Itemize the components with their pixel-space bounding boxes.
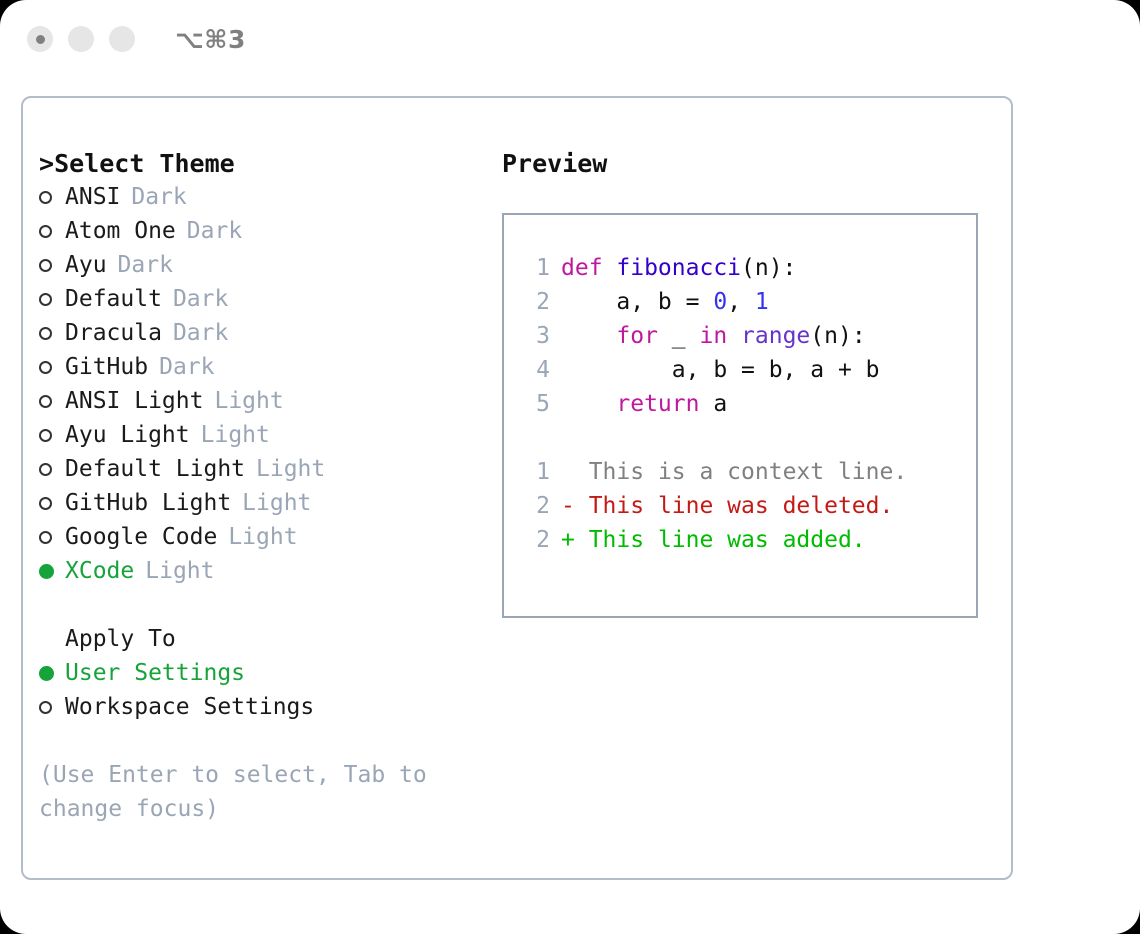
theme-variant-label: Dark (131, 184, 186, 210)
apply-to-label: Workspace Settings (65, 694, 314, 720)
radio-selected-icon[interactable] (39, 666, 65, 681)
radio-glyph (39, 497, 52, 510)
app-window: ⌥⌘3 > Select Theme ANSIDarkAtom OneDarkA… (0, 0, 1140, 934)
window-dot-filled-icon[interactable] (27, 26, 53, 52)
radio-unselected-icon[interactable] (39, 327, 65, 340)
theme-name-label: GitHub (65, 354, 148, 380)
code-line: 1def fibonacci(n): (516, 251, 976, 285)
theme-variant-label: Dark (159, 354, 214, 380)
diff-line-number: 2 (516, 527, 550, 553)
theme-name-label: GitHub Light (65, 490, 231, 516)
diff-line-number: 2 (516, 493, 550, 519)
apply-to-list: User SettingsWorkspace Settings (39, 656, 479, 724)
radio-unselected-icon[interactable] (39, 191, 65, 204)
theme-list-item[interactable]: Google CodeLight (39, 520, 479, 554)
radio-glyph (39, 666, 54, 681)
radio-glyph (39, 564, 54, 579)
code-token: def (561, 255, 616, 281)
theme-list-item[interactable]: ANSI LightLight (39, 384, 479, 418)
theme-list-item[interactable]: DefaultDark (39, 282, 479, 316)
theme-list-item[interactable]: Atom OneDark (39, 214, 479, 248)
radio-glyph (39, 191, 52, 204)
code-token (561, 391, 616, 417)
radio-glyph (39, 463, 52, 476)
radio-glyph (39, 361, 52, 374)
title-bar: ⌥⌘3 (0, 0, 1140, 78)
diff-marker: - (561, 493, 575, 519)
radio-selected-icon[interactable] (39, 564, 65, 579)
prompt-caret: > (39, 149, 54, 178)
code-token: _ (658, 323, 700, 349)
window-dot-inner (36, 35, 45, 44)
theme-list-item[interactable]: ANSIDark (39, 180, 479, 214)
select-theme-heading: > Select Theme (39, 146, 479, 180)
code-token (561, 323, 616, 349)
radio-unselected-icon[interactable] (39, 701, 65, 714)
code-token: (n): (741, 255, 796, 281)
radio-glyph (39, 701, 52, 714)
apply-to-item[interactable]: User Settings (39, 656, 479, 690)
theme-variant-label: Dark (173, 286, 228, 312)
keyboard-shortcut-label: ⌥⌘3 (175, 25, 246, 54)
theme-list-item[interactable]: AyuDark (39, 248, 479, 282)
theme-variant-label: Light (145, 558, 214, 584)
diff-line-text: This is a context line. (575, 459, 907, 485)
code-line-number: 3 (516, 323, 550, 349)
theme-variant-label: Light (201, 422, 270, 448)
theme-variant-label: Light (228, 524, 297, 550)
code-line-content: def fibonacci(n): (561, 255, 796, 281)
theme-list-item[interactable]: Ayu LightLight (39, 418, 479, 452)
theme-name-label: Ayu (65, 252, 107, 278)
diff-line-number: 1 (516, 459, 550, 485)
theme-name-label: Dracula (65, 320, 162, 346)
code-line-content: for _ in range(n): (561, 323, 866, 349)
theme-variant-label: Light (256, 456, 325, 482)
apply-to-label: User Settings (65, 660, 245, 686)
code-token: in (699, 323, 727, 349)
code-line-number: 4 (516, 357, 550, 383)
code-token: (n): (810, 323, 865, 349)
preview-box: 1def fibonacci(n):2 a, b = 0, 13 for _ i… (502, 213, 978, 618)
theme-name-label: ANSI Light (65, 388, 203, 414)
preview-title: Preview (502, 146, 992, 180)
radio-unselected-icon[interactable] (39, 259, 65, 272)
select-theme-heading-label: Select Theme (54, 149, 235, 178)
code-line: 2 a, b = 0, 1 (516, 285, 976, 319)
radio-unselected-icon[interactable] (39, 463, 65, 476)
theme-name-label: Atom One (65, 218, 176, 244)
code-token: a (699, 391, 727, 417)
theme-name-label: ANSI (65, 184, 120, 210)
radio-unselected-icon[interactable] (39, 293, 65, 306)
theme-name-label: Ayu Light (65, 422, 190, 448)
code-line-number: 2 (516, 289, 550, 315)
code-line: 3 for _ in range(n): (516, 319, 976, 353)
keyboard-hint-text: (Use Enter to select, Tab to change focu… (39, 758, 449, 826)
code-token: return (616, 391, 699, 417)
radio-glyph (39, 259, 52, 272)
window-dot-third-icon[interactable] (109, 26, 135, 52)
code-line-number: 5 (516, 391, 550, 417)
theme-list: ANSIDarkAtom OneDarkAyuDarkDefaultDarkDr… (39, 180, 479, 588)
code-line-content: return a (561, 391, 727, 417)
radio-unselected-icon[interactable] (39, 395, 65, 408)
theme-list-item[interactable]: GitHubDark (39, 350, 479, 384)
code-line: 5 return a (516, 387, 976, 421)
code-token: range (741, 323, 810, 349)
diff-line-text: This line was added. (575, 527, 866, 553)
theme-list-item[interactable]: XCodeLight (39, 554, 479, 588)
diff-marker (561, 459, 575, 485)
theme-variant-label: Dark (187, 218, 242, 244)
diff-marker: + (561, 527, 575, 553)
window-dot-second-icon[interactable] (68, 26, 94, 52)
code-line-number: 1 (516, 255, 550, 281)
code-line: 4 a, b = b, a + b (516, 353, 976, 387)
radio-glyph (39, 395, 52, 408)
theme-variant-label: Dark (173, 320, 228, 346)
radio-glyph (39, 225, 52, 238)
radio-glyph (39, 429, 52, 442)
theme-list-item[interactable]: DraculaDark (39, 316, 479, 350)
radio-unselected-icon[interactable] (39, 497, 65, 510)
code-token: fibonacci (616, 255, 741, 281)
code-token: a, b = b, a + b (561, 357, 880, 383)
theme-name-label: Default (65, 286, 162, 312)
code-token: 1 (755, 289, 769, 315)
diff-line: 1 This is a context line. (516, 455, 976, 489)
radio-unselected-icon[interactable] (39, 225, 65, 238)
radio-glyph (39, 531, 52, 544)
diff-sample: 1 This is a context line.2- This line wa… (516, 455, 976, 557)
theme-variant-label: Dark (118, 252, 173, 278)
diff-line: 2- This line was deleted. (516, 489, 976, 523)
theme-picker-panel: > Select Theme ANSIDarkAtom OneDarkAyuDa… (21, 96, 1013, 880)
radio-glyph (39, 327, 52, 340)
radio-unselected-icon[interactable] (39, 361, 65, 374)
radio-glyph (39, 293, 52, 306)
preview-column: Preview 1def fibonacci(n):2 a, b = 0, 13… (502, 146, 992, 618)
code-diff-separator (516, 421, 976, 455)
diff-line: 2+ This line was added. (516, 523, 976, 557)
apply-to-item[interactable]: Workspace Settings (39, 690, 479, 724)
list-spacer (39, 588, 479, 622)
theme-name-label: Google Code (65, 524, 217, 550)
code-token: for (616, 323, 658, 349)
theme-variant-label: Light (242, 490, 311, 516)
theme-list-item[interactable]: GitHub LightLight (39, 486, 479, 520)
theme-name-label: Default Light (65, 456, 245, 482)
radio-unselected-icon[interactable] (39, 429, 65, 442)
radio-unselected-icon[interactable] (39, 531, 65, 544)
theme-name-label: XCode (65, 558, 134, 584)
theme-list-column: > Select Theme ANSIDarkAtom OneDarkAyuDa… (39, 146, 479, 826)
diff-line-text: This line was deleted. (575, 493, 894, 519)
theme-list-item[interactable]: Default LightLight (39, 452, 479, 486)
theme-variant-label: Light (214, 388, 283, 414)
code-line-content: a, b = 0, 1 (561, 289, 769, 315)
apply-to-heading: Apply To (39, 622, 479, 656)
code-token: 0 (713, 289, 727, 315)
code-token: , (727, 289, 755, 315)
code-token (727, 323, 741, 349)
code-sample: 1def fibonacci(n):2 a, b = 0, 13 for _ i… (516, 251, 976, 421)
code-line-content: a, b = b, a + b (561, 357, 880, 383)
code-token: a, b = (561, 289, 713, 315)
